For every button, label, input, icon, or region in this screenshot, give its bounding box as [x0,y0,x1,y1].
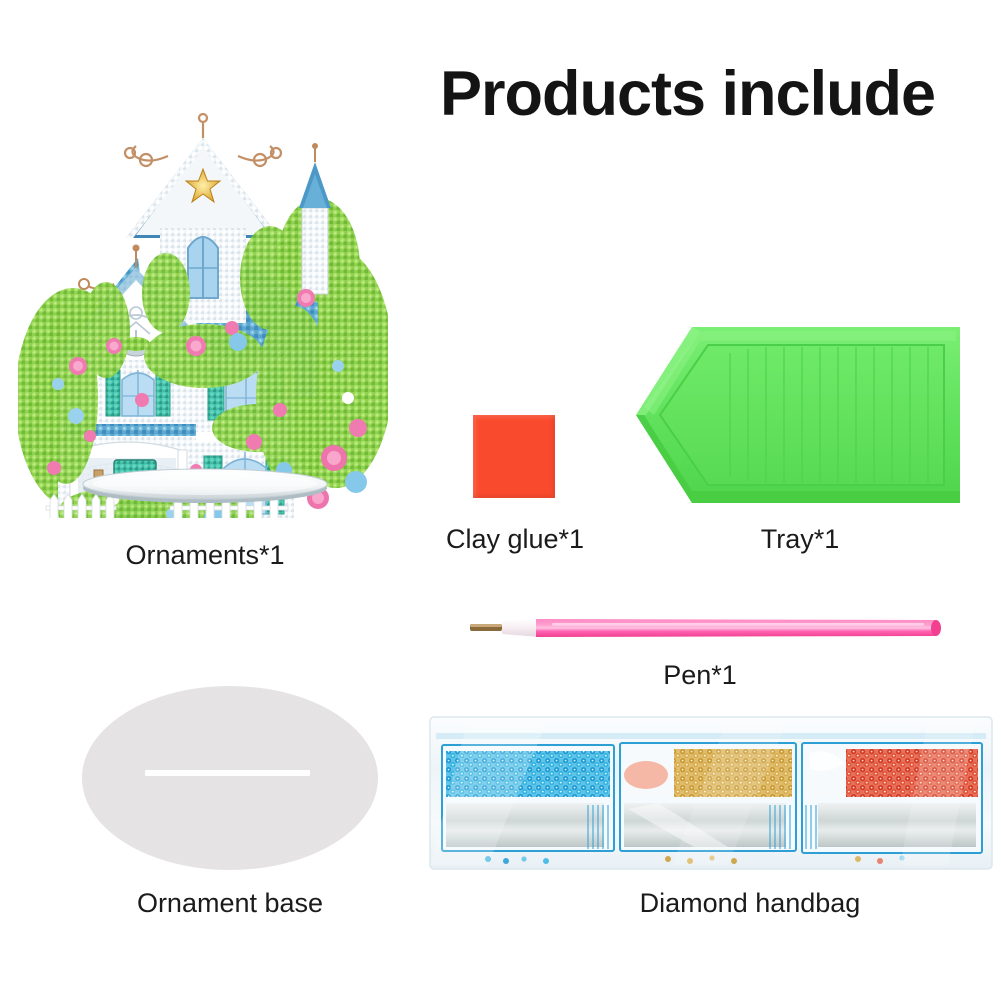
pen-icon [466,608,946,648]
diamond-bag-icon [428,713,994,873]
ornament-base-label: Ornament base [95,888,365,919]
oval-base-slot [145,770,310,776]
tray-label: Tray*1 [700,524,900,555]
clay-glue-label: Clay glue*1 [420,524,610,555]
oval-base-icon [82,686,378,870]
ornament-disc-base [80,466,330,506]
clay-glue-icon [473,415,555,498]
tray-icon [630,315,970,515]
page-title: Products include [440,63,990,126]
pen-label: Pen*1 [600,660,800,691]
house-ornament-icon [18,98,388,518]
product-contents-graphic: Products include [0,0,1001,1001]
ornaments-label: Ornaments*1 [90,540,320,571]
diamond-handbag-label: Diamond handbag [600,888,900,919]
